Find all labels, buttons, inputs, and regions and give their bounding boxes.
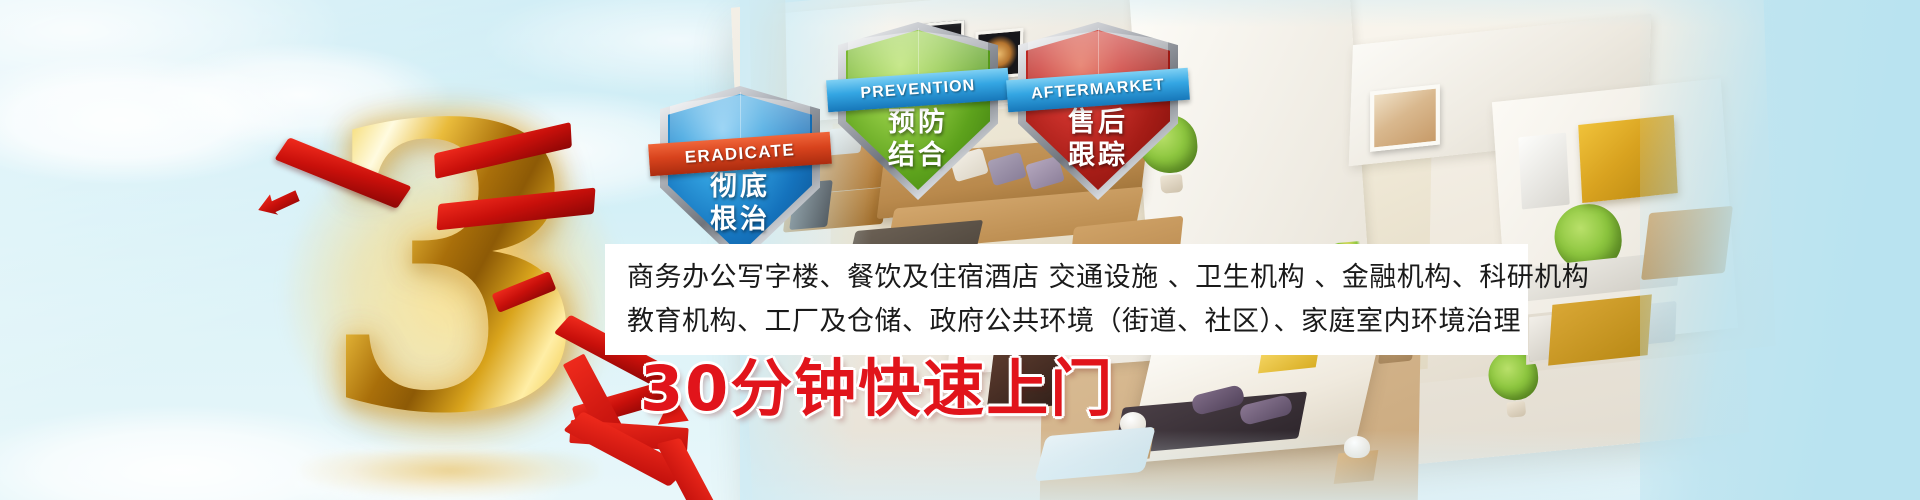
kitchen-range-hood: [1518, 132, 1570, 209]
badge-cn-line2: 结合: [838, 139, 998, 172]
shield-center-line: [1098, 28, 1099, 80]
plant-pot: [1506, 401, 1526, 418]
right-edge-sky-fade: [1640, 0, 1920, 500]
badge-cn-line1: 彻底: [660, 170, 820, 203]
badge-cn-line1: 售后: [1018, 106, 1178, 139]
table-lamp: [1344, 436, 1370, 458]
badge-english-label: PREVENTION: [860, 77, 976, 103]
service-scope-panel: 商务办公写字楼、餐饮及住宿酒店 交通设施 、卫生机构 、金融机构、科研机构 教育…: [605, 244, 1528, 355]
badge-chinese-text: 售后 跟踪: [1018, 106, 1178, 172]
nightstand: [1110, 428, 1155, 462]
kitchen-oven: [1526, 309, 1578, 365]
badge-prevention[interactable]: 预防 结合 PREVENTION: [838, 22, 998, 200]
shield-icon: 彻底 根治: [660, 86, 820, 264]
bed-pillow: [1238, 394, 1293, 426]
badge-aftermarket[interactable]: 售后 跟踪 AFTERMARKET: [1018, 22, 1178, 200]
plant-foliage: [1487, 349, 1540, 402]
bed-pillow: [1190, 384, 1245, 416]
shield-center-line: [740, 92, 741, 144]
headline-text: 30分钟快速上门: [640, 358, 1114, 420]
shield-center-line: [918, 28, 919, 80]
shield-icon: 预防 结合: [838, 22, 998, 200]
shield-icon: 售后 跟踪: [1018, 22, 1178, 200]
badge-chinese-text: 预防 结合: [838, 106, 998, 172]
framed-portrait: [1370, 84, 1440, 152]
wall-right: [1349, 14, 1652, 166]
badge-eradicate[interactable]: 彻底 根治 ERADICATE: [660, 86, 820, 264]
service-scope-line-2: 教育机构、工厂及仓储、政府公共环境（街道、社区）、家庭室内环境治理: [627, 300, 1528, 344]
badge-english-label: ERADICATE: [684, 140, 796, 168]
nightstand: [1334, 450, 1379, 484]
badge-cn-line2: 根治: [660, 203, 820, 236]
promotional-banner: 3 彻底 根治 ERADICATE: [0, 0, 1920, 500]
service-scope-line-1: 商务办公写字楼、餐饮及住宿酒店 交通设施 、卫生机构 、金融机构、科研机构: [627, 256, 1528, 300]
badge-cn-line1: 预防: [838, 106, 998, 139]
badge-chinese-text: 彻底 根治: [660, 170, 820, 236]
badge-english-label: AFTERMARKET: [1031, 76, 1166, 103]
bathtub: [1034, 427, 1156, 482]
badge-cn-line2: 跟踪: [1018, 139, 1178, 172]
table-lamp: [1120, 412, 1146, 434]
kitchen-lower-cabinet: [1548, 294, 1652, 365]
bed-headboard: [1114, 391, 1307, 454]
potted-plant: [1487, 349, 1542, 419]
